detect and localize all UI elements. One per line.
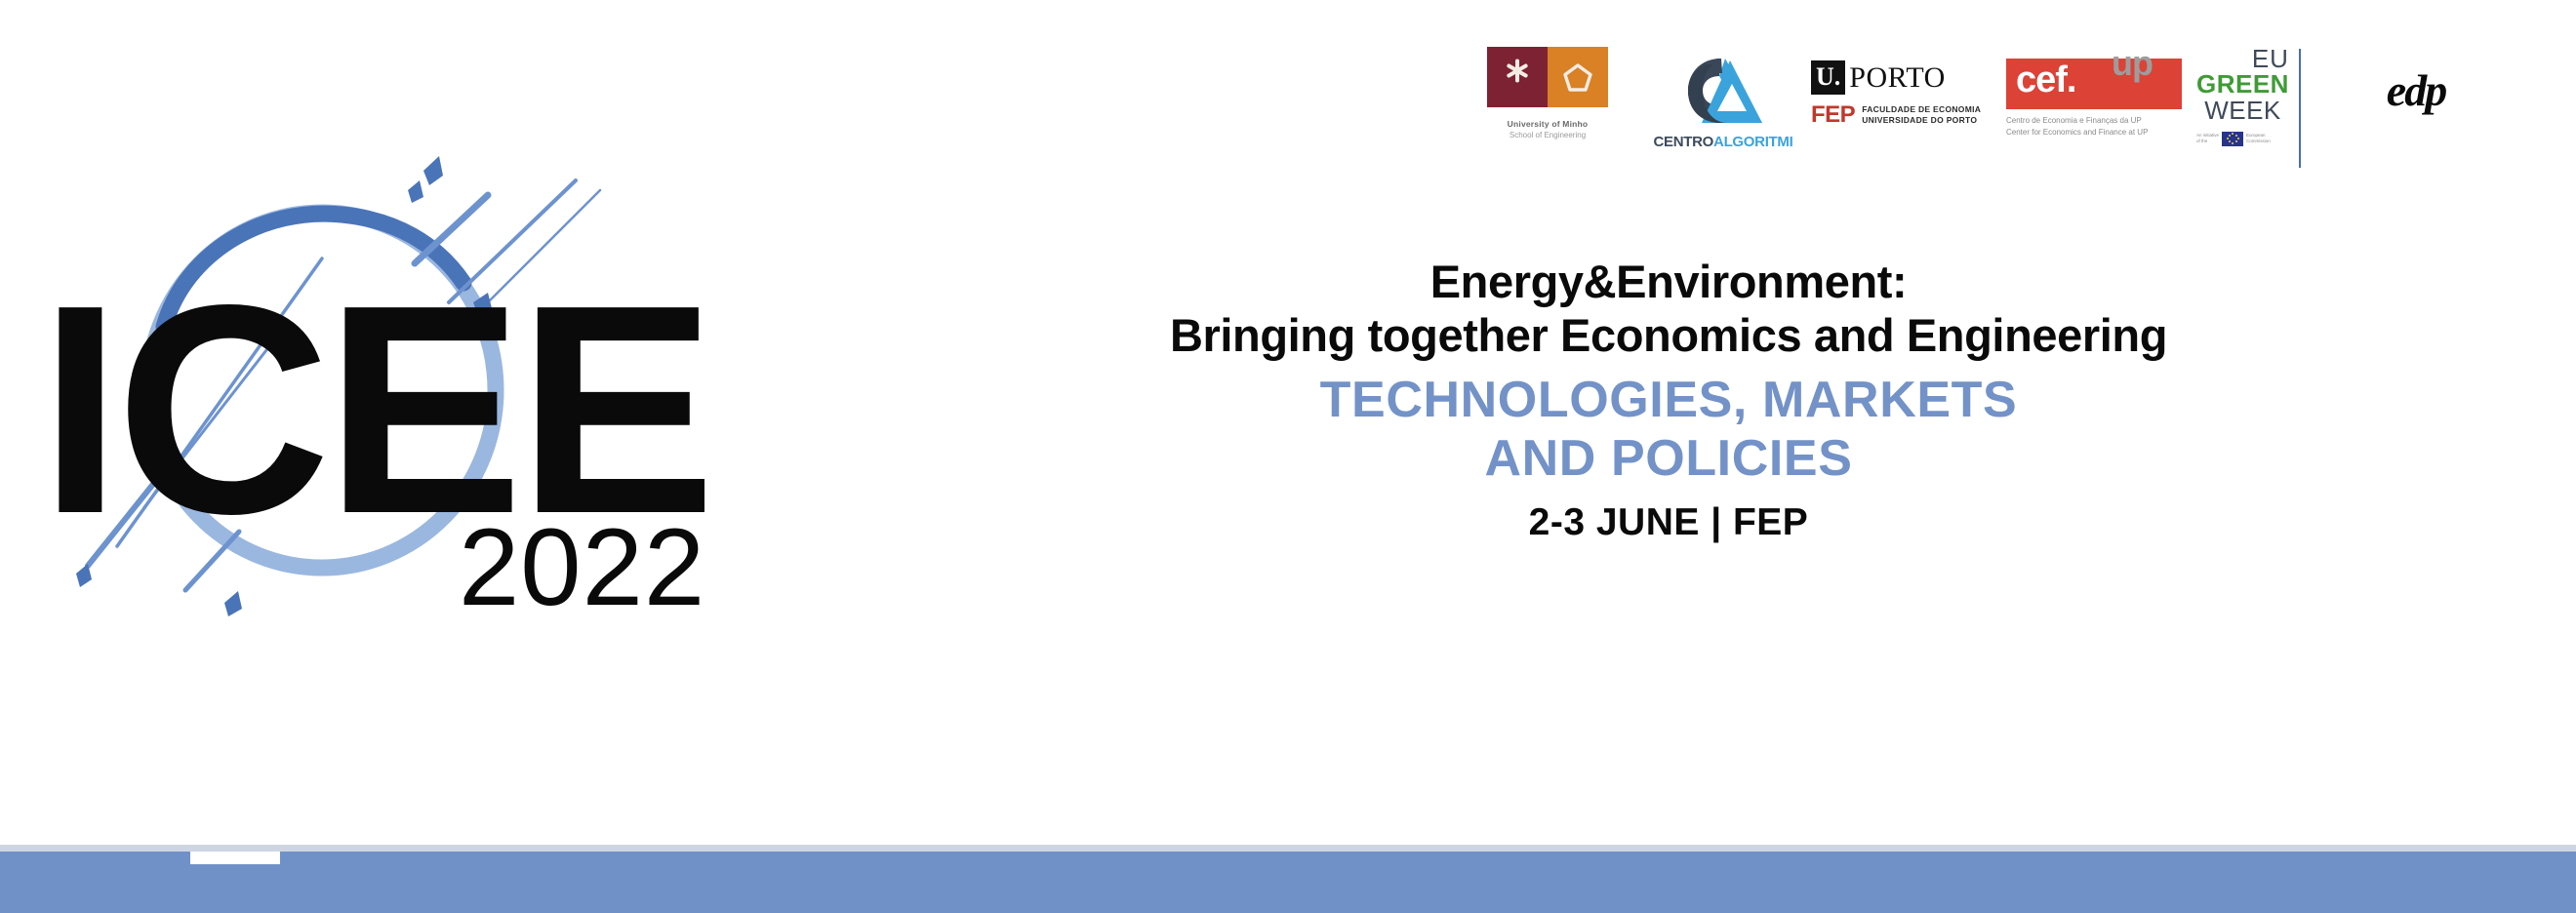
sponsor-logo-edp: edp — [2343, 47, 2489, 113]
university-of-minho-name: University of Minho — [1508, 119, 1589, 129]
cef-up-word-cef: cef. — [2016, 61, 2075, 99]
conference-subtitle-line2: AND POLICIES — [839, 429, 2498, 488]
cef-up-mark-icon: cef. up — [2006, 59, 2182, 109]
asterisk-icon — [1501, 60, 1534, 94]
eu-flag-icon — [2222, 132, 2243, 146]
fep-subtitle-line2: UNIVERSIDADE DO PORTO — [1862, 115, 1981, 126]
centro-algoritmi-word-algoritmi: ALGORITMI — [1713, 134, 1792, 150]
eu-green-week-foot-right-line2: Commission — [2246, 139, 2271, 144]
conference-theme-line2: Bringing together Economics and Engineer… — [839, 309, 2498, 363]
conference-date-venue: 2-3 JUNE | FEP — [839, 500, 2498, 546]
eu-green-week-word-eu: EU — [2196, 47, 2289, 71]
eu-green-week-word-week: WEEK — [2196, 98, 2289, 124]
eu-green-week-word-green: GREEN — [2196, 71, 2289, 98]
title-block: Energy&Environment: Bringing together Ec… — [839, 256, 2498, 545]
bottom-bar-notch — [190, 852, 280, 864]
sponsor-logo-eu-green-week: EU GREEN WEEK An initiative of the — [2196, 47, 2343, 146]
conference-subtitle-line1: TECHNOLOGIES, MARKETS — [839, 371, 2498, 429]
icee-event-logo: ICEE 2022 — [29, 146, 712, 634]
edp-wordmark: edp — [2387, 68, 2445, 113]
u-porto-badge: U. — [1811, 60, 1845, 95]
conference-theme-line1: Energy&Environment: — [839, 256, 2498, 309]
fep-wordmark: FEP — [1811, 101, 1855, 129]
bottom-accent-bar — [0, 852, 2576, 913]
bottom-hairline-divider — [0, 845, 2576, 852]
cef-up-subtitle-line1: Centro de Economia e Finanças da UP — [2006, 115, 2148, 127]
conference-banner: University of Minho School of Engineerin… — [0, 0, 2576, 913]
university-of-minho-mark-icon — [1487, 47, 1608, 107]
u-porto-wordmark: PORTO — [1849, 61, 1946, 95]
fep-subtitle-line1: FACULDADE DE ECONOMIA — [1862, 104, 1981, 115]
sponsor-logo-centro-algoritmi: CENTROALGORITMI — [1635, 47, 1811, 150]
cef-up-subtitle-line2: Center for Economics and Finance at UP — [2006, 127, 2148, 139]
university-of-minho-subtitle: School of Engineering — [1509, 131, 1586, 139]
sponsor-logo-u-porto-fep: U. PORTO FEP FACULDADE DE ECONOMIA UNIVE… — [1811, 47, 2006, 129]
cef-up-word-up: up — [2112, 46, 2153, 81]
pentagon-icon — [1563, 63, 1592, 92]
logo-year-text: 2022 — [459, 506, 705, 628]
eu-green-week-foot-left-line2: of the — [2196, 139, 2219, 144]
centro-algoritmi-mark-icon — [1676, 55, 1770, 127]
centro-algoritmi-word-centro: CENTRO — [1653, 134, 1713, 150]
sponsor-logo-university-of-minho: University of Minho School of Engineerin… — [1460, 47, 1635, 139]
sponsor-logo-cef-up: cef. up Centro de Economia e Finanças da… — [2006, 47, 2196, 138]
sponsor-logo-strip: University of Minho School of Engineerin… — [1460, 47, 2533, 183]
centro-algoritmi-wordmark: CENTROALGORITMI — [1653, 134, 1792, 150]
